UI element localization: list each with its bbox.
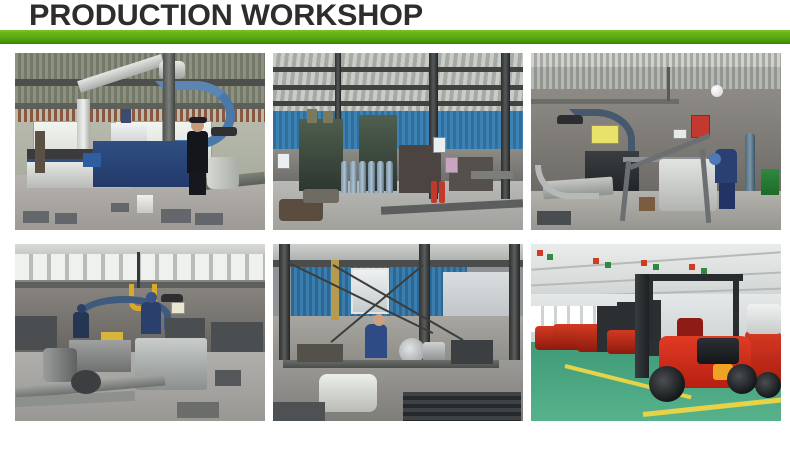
gallery-photo-1[interactable]: Workshop interior with blue CNC laser cu…	[15, 53, 265, 230]
gallery-photo-2[interactable]: Large fabrication hall with steel column…	[273, 53, 523, 230]
gallery-photo-3[interactable]: Worker in blue jacket grinding sheet met…	[531, 53, 781, 230]
photo-5-scene	[273, 244, 523, 421]
title-accent-rule	[0, 30, 790, 44]
photo-6-scene	[531, 244, 781, 421]
gallery-photo-5[interactable]: Operator in blue uniform working at a be…	[273, 244, 523, 421]
photo-3-scene	[531, 53, 781, 230]
gallery-photo-6[interactable]: Final assembly line of red forklift truc…	[531, 244, 781, 421]
photo-gallery: Workshop interior with blue CNC laser cu…	[15, 53, 775, 421]
gallery-photo-4[interactable]: Assembly bay with yellow overhead crane …	[15, 244, 265, 421]
photo-4-scene	[15, 244, 265, 421]
photo-1-scene	[15, 53, 265, 230]
page-title: PRODUCTION WORKSHOP	[29, 1, 423, 31]
page-header: PRODUCTION WORKSHOP	[0, 0, 790, 44]
photo-2-scene	[273, 53, 523, 230]
